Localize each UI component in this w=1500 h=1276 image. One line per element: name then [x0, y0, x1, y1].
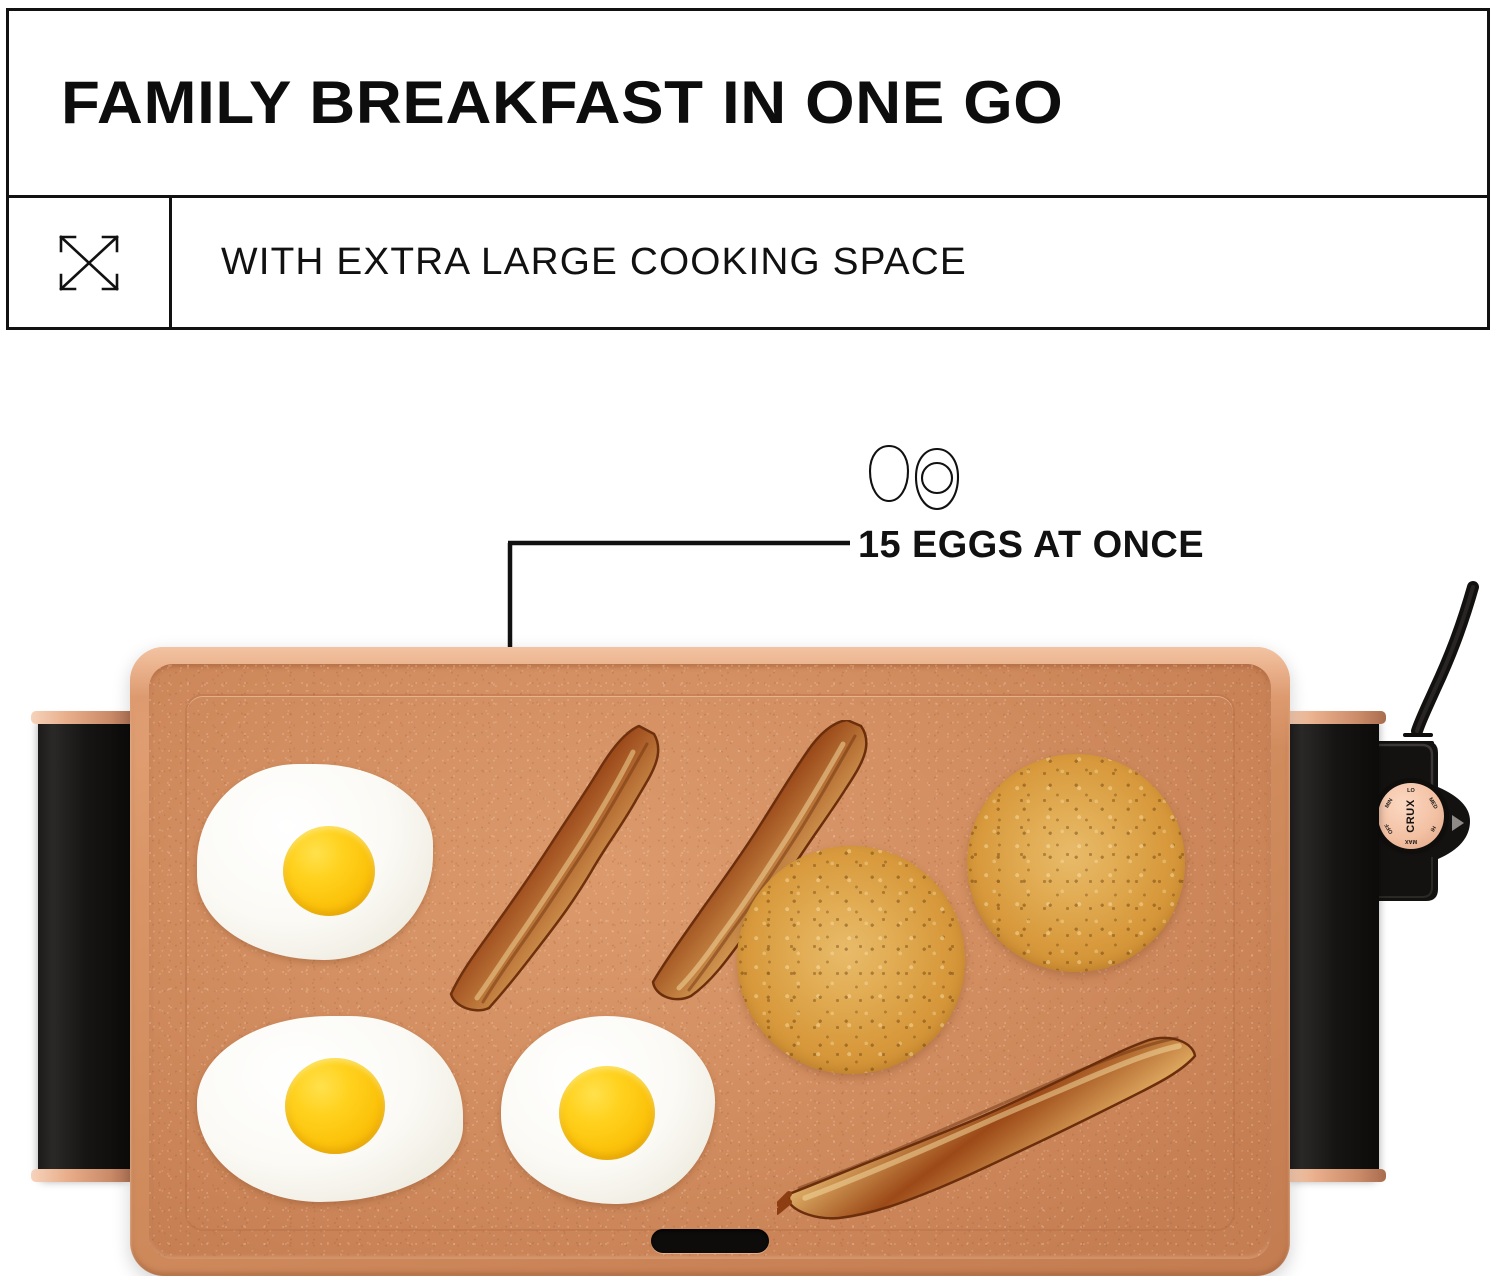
pancake-right — [967, 754, 1185, 972]
cooking-surface — [149, 664, 1271, 1259]
dial-tick-hi: HI — [1429, 825, 1437, 833]
dial-tick-min: MIN — [1384, 798, 1394, 810]
right-handle[interactable] — [1287, 715, 1379, 1178]
dial-tick-lo: LO — [1407, 788, 1415, 794]
temperature-dial[interactable]: CRUX MINLOMEDHIMAXOFF — [1378, 783, 1444, 849]
griddle-body — [130, 647, 1290, 1276]
page-subtitle: WITH EXTRA LARGE COOKING SPACE — [221, 241, 967, 284]
pancake-left — [737, 846, 965, 1074]
feature-icon-cell — [9, 198, 172, 327]
callout-label: 15 EGGS AT ONCE — [858, 524, 1204, 567]
pancake-texture — [967, 754, 1185, 972]
left-handle[interactable] — [38, 715, 130, 1178]
egg-yolk — [285, 1058, 385, 1154]
dial-tick-max: MAX — [1405, 838, 1417, 844]
subtitle-row: WITH EXTRA LARGE COOKING SPACE — [9, 198, 1487, 327]
dial-tick-off: OFF — [1384, 822, 1395, 835]
header-box: FAMILY BREAKFAST IN ONE GO WITH EXTRA LA — [6, 8, 1490, 330]
product-marketing-image: FAMILY BREAKFAST IN ONE GO WITH EXTRA LA — [0, 0, 1500, 1276]
egg-bottom-mid — [501, 1016, 715, 1204]
grease-drain-slot — [651, 1229, 769, 1253]
headline-row: FAMILY BREAKFAST IN ONE GO — [9, 11, 1487, 198]
egg-yolk — [559, 1066, 655, 1160]
electric-griddle: CRUX MINLOMEDHIMAXOFF — [0, 585, 1500, 1276]
dial-tick-med: MED — [1427, 797, 1438, 811]
page-title: FAMILY BREAKFAST IN ONE GO — [9, 73, 1063, 133]
subtitle-cell: WITH EXTRA LARGE COOKING SPACE — [172, 198, 1487, 327]
expand-arrows-icon — [50, 226, 128, 300]
egg-top-left — [197, 764, 433, 960]
egg-bottom-left — [197, 1016, 463, 1202]
pancake-texture — [737, 846, 965, 1074]
two-eggs-icon — [866, 443, 970, 515]
egg-yolk — [283, 826, 375, 916]
